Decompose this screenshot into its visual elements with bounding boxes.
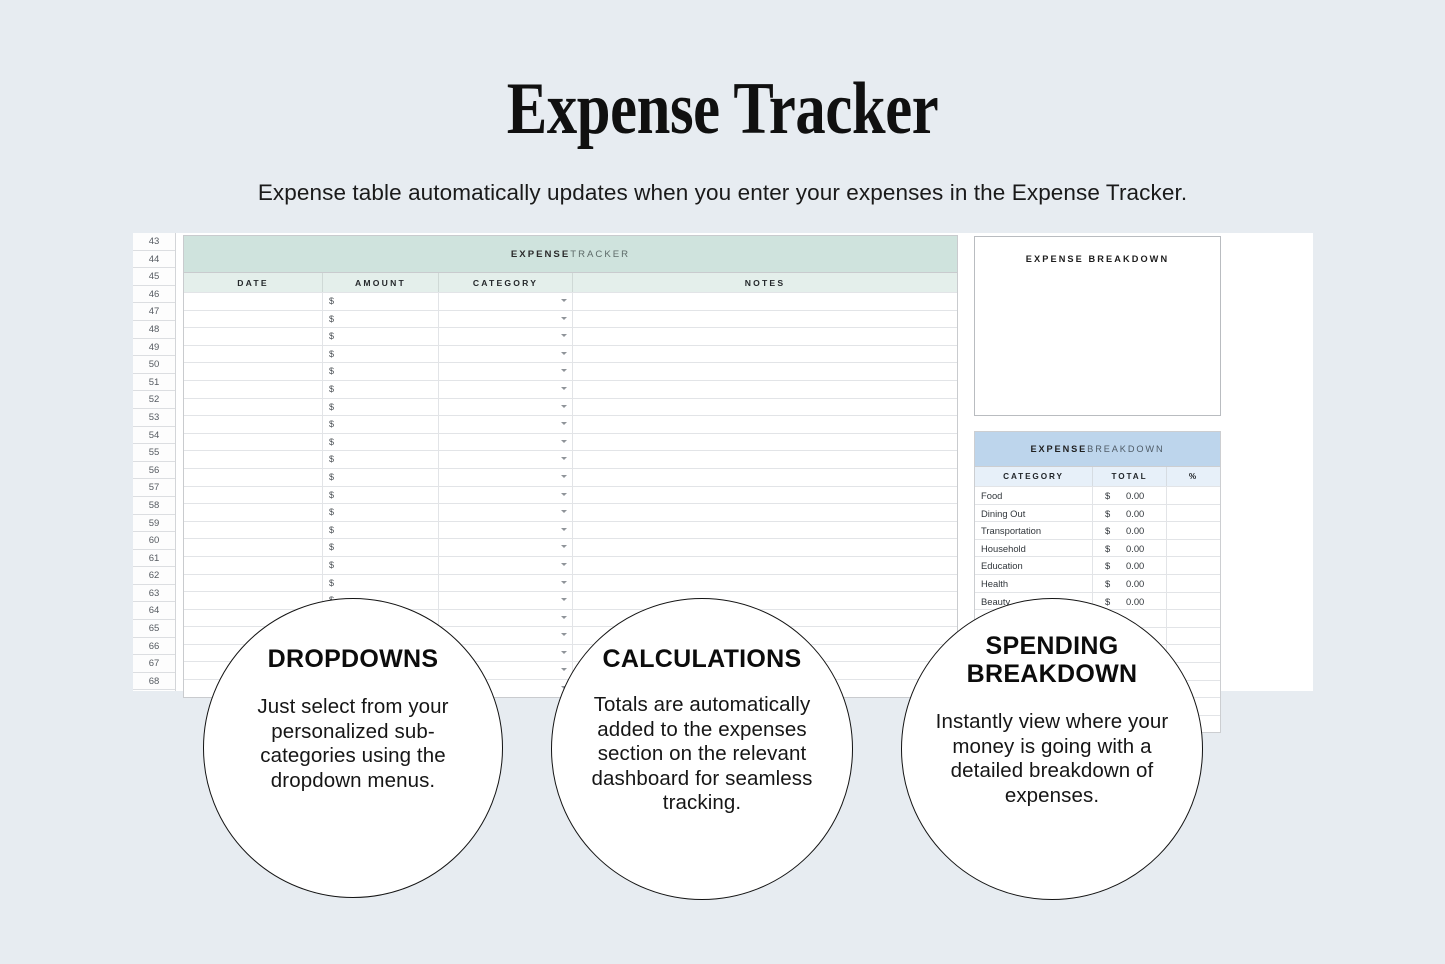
breakdown-total-value: 0.00 [1126, 593, 1144, 611]
chevron-down-icon[interactable] [561, 545, 567, 548]
breakdown-category-label: Transportation [975, 525, 1041, 536]
breakdown-row[interactable]: Education$0.00 [975, 556, 1220, 574]
breakdown-cell-percent[interactable] [1167, 505, 1220, 522]
chevron-down-icon[interactable] [561, 457, 567, 460]
chevron-down-icon[interactable] [561, 334, 567, 337]
row-number[interactable]: 64 [133, 602, 175, 620]
breakdown-cell-percent[interactable] [1167, 557, 1220, 574]
cell-notes[interactable] [573, 469, 957, 486]
expense-breakdown-title-light: BREAKDOWN [1087, 444, 1164, 454]
row-number[interactable]: 66 [133, 638, 175, 656]
cell-category-dropdown[interactable] [439, 399, 573, 416]
breakdown-total-value: 0.00 [1126, 522, 1144, 540]
chevron-down-icon[interactable] [561, 405, 567, 408]
table-row[interactable]: $ [184, 415, 957, 433]
breakdown-row[interactable]: Food$0.00 [975, 486, 1220, 504]
cell-date[interactable] [184, 363, 323, 380]
chevron-down-icon[interactable] [561, 651, 567, 654]
breakdown-cell-total[interactable]: $0.00 [1093, 540, 1167, 557]
cell-category-dropdown[interactable] [439, 557, 573, 574]
breakdown-cell-category[interactable]: Transportation [975, 522, 1093, 539]
table-row[interactable]: $ [184, 433, 957, 451]
feature-body-calculations: Totals are automatically added to the ex… [582, 693, 822, 816]
currency-symbol: $ [1105, 575, 1110, 593]
table-row[interactable]: $ [184, 450, 957, 468]
breakdown-category-label: Household [975, 543, 1026, 554]
currency-symbol: $ [329, 349, 334, 359]
cell-amount[interactable]: $ [323, 311, 439, 328]
chevron-down-icon[interactable] [561, 369, 567, 372]
currency-symbol: $ [329, 437, 334, 447]
cell-amount[interactable]: $ [323, 487, 439, 504]
cell-amount[interactable]: $ [323, 328, 439, 345]
chevron-down-icon[interactable] [561, 317, 567, 320]
cell-category-dropdown[interactable] [439, 469, 573, 486]
feature-circle-spending-breakdown: SPENDING BREAKDOWN Instantly view where … [901, 598, 1203, 900]
chevron-down-icon[interactable] [561, 528, 567, 531]
cell-notes[interactable] [573, 539, 957, 556]
cell-notes[interactable] [573, 399, 957, 416]
table-row[interactable]: $ [184, 310, 957, 328]
feature-circle-dropdowns: DROPDOWNS Just select from your personal… [203, 598, 503, 898]
breakdown-row[interactable]: Health$0.00 [975, 574, 1220, 592]
cell-category-dropdown[interactable] [439, 575, 573, 592]
table-row[interactable]: $ [184, 591, 957, 609]
chevron-down-icon[interactable] [561, 633, 567, 636]
cell-date[interactable] [184, 522, 323, 539]
cell-notes[interactable] [573, 522, 957, 539]
table-row[interactable]: $ [184, 327, 957, 345]
cell-notes[interactable] [573, 434, 957, 451]
breakdown-category-label: Health [975, 578, 1008, 589]
cell-date[interactable] [184, 399, 323, 416]
breakdown-category-label: Education [975, 560, 1023, 571]
chevron-down-icon[interactable] [561, 440, 567, 443]
cell-category-dropdown[interactable] [439, 539, 573, 556]
breakdown-cell-percent[interactable] [1167, 593, 1220, 610]
cell-category-dropdown[interactable] [439, 346, 573, 363]
cell-amount[interactable]: $ [323, 557, 439, 574]
chevron-down-icon[interactable] [561, 616, 567, 619]
row-number[interactable]: 47 [133, 303, 175, 321]
expense-tracker-title-band: EXPENSETRACKER [184, 236, 957, 272]
table-row[interactable]: $ [184, 362, 957, 380]
row-number[interactable]: 51 [133, 374, 175, 392]
cell-amount[interactable]: $ [323, 451, 439, 468]
table-row[interactable]: $ [184, 521, 957, 539]
breakdown-cell-category[interactable]: Education [975, 557, 1093, 574]
cell-notes[interactable] [573, 575, 957, 592]
cell-date[interactable] [184, 416, 323, 433]
chevron-down-icon[interactable] [561, 668, 567, 671]
breakdown-cell-percent[interactable] [1167, 628, 1220, 645]
chevron-down-icon[interactable] [561, 493, 567, 496]
cell-category-dropdown[interactable] [439, 434, 573, 451]
row-number[interactable]: 53 [133, 409, 175, 427]
cell-date[interactable] [184, 381, 323, 398]
expense-tracker-title: EXPENSETRACKER [184, 249, 957, 260]
cell-category-dropdown[interactable] [439, 592, 573, 609]
cell-date[interactable] [184, 451, 323, 468]
cell-date[interactable] [184, 539, 323, 556]
cell-notes[interactable] [573, 557, 957, 574]
breakdown-total-value: 0.00 [1126, 540, 1144, 558]
table-row[interactable]: $ [184, 486, 957, 504]
currency-symbol: $ [329, 578, 334, 588]
currency-symbol: $ [329, 402, 334, 412]
column-header-category: CATEGORY [439, 273, 573, 292]
expense-tracker-header-row: DATE AMOUNT CATEGORY NOTES [184, 272, 957, 292]
breakdown-total-value: 0.00 [1126, 487, 1144, 505]
chevron-down-icon[interactable] [561, 581, 567, 584]
table-row[interactable]: $ [184, 574, 957, 592]
currency-symbol: $ [1105, 487, 1110, 505]
breakdown-column-header-total: TOTAL [1093, 467, 1167, 486]
breakdown-cell-total[interactable]: $0.00 [1093, 505, 1167, 522]
cell-amount[interactable]: $ [323, 416, 439, 433]
row-number[interactable]: 57 [133, 479, 175, 497]
cell-amount[interactable]: $ [323, 469, 439, 486]
row-number[interactable]: 60 [133, 532, 175, 550]
chevron-down-icon[interactable] [561, 563, 567, 566]
cell-category-dropdown[interactable] [439, 451, 573, 468]
cell-amount[interactable]: $ [323, 293, 439, 310]
breakdown-cell-total[interactable]: $0.00 [1093, 575, 1167, 592]
row-number[interactable]: 63 [133, 585, 175, 603]
breakdown-category-label: Food [975, 490, 1002, 501]
cell-category-dropdown[interactable] [439, 311, 573, 328]
cell-amount[interactable]: $ [323, 575, 439, 592]
breakdown-cell-total[interactable]: $0.00 [1093, 522, 1167, 539]
expense-tracker-title-light: TRACKER [570, 249, 630, 260]
row-number[interactable]: 54 [133, 427, 175, 445]
page-title: Expense Tracker [130, 72, 1315, 146]
table-row[interactable]: $ [184, 292, 957, 310]
row-number[interactable]: 43 [133, 233, 175, 251]
row-number[interactable]: 62 [133, 567, 175, 585]
breakdown-total-value: 0.00 [1126, 557, 1144, 575]
cell-category-dropdown[interactable] [439, 416, 573, 433]
row-number[interactable]: 55 [133, 444, 175, 462]
cell-amount[interactable]: $ [323, 346, 439, 363]
cell-date[interactable] [184, 328, 323, 345]
cell-date[interactable] [184, 293, 323, 310]
breakdown-total-value: 0.00 [1126, 505, 1144, 523]
breakdown-cell-percent[interactable] [1167, 540, 1220, 557]
breakdown-total-value: 0.00 [1126, 575, 1144, 593]
table-row[interactable]: $ [184, 345, 957, 363]
breakdown-cell-percent[interactable] [1167, 610, 1220, 627]
currency-symbol: $ [329, 454, 334, 464]
row-number-gutter: 4344454647484950515253545556575859606162… [133, 233, 176, 691]
cell-amount[interactable]: $ [323, 381, 439, 398]
currency-symbol: $ [329, 366, 334, 376]
cell-date[interactable] [184, 487, 323, 504]
cell-amount[interactable]: $ [323, 363, 439, 380]
chevron-down-icon[interactable] [561, 352, 567, 355]
cell-notes[interactable] [573, 592, 957, 609]
cell-notes[interactable] [573, 363, 957, 380]
chevron-down-icon[interactable] [561, 598, 567, 601]
expense-breakdown-chart-panel: EXPENSE BREAKDOWN [974, 236, 1221, 416]
currency-symbol: $ [1105, 522, 1110, 540]
cell-amount[interactable]: $ [323, 522, 439, 539]
currency-symbol: $ [329, 296, 334, 306]
cell-category-dropdown[interactable] [439, 610, 573, 627]
column-header-notes: NOTES [573, 273, 957, 292]
row-number[interactable]: 65 [133, 620, 175, 638]
currency-symbol: $ [329, 542, 334, 552]
row-number[interactable]: 49 [133, 339, 175, 357]
currency-symbol: $ [1105, 540, 1110, 558]
table-row[interactable]: $ [184, 468, 957, 486]
feature-title-calculations: CALCULATIONS [603, 645, 802, 673]
currency-symbol: $ [329, 331, 334, 341]
cell-amount[interactable]: $ [323, 399, 439, 416]
feature-title-spending-breakdown: SPENDING BREAKDOWN [942, 632, 1162, 688]
cell-category-dropdown[interactable] [439, 293, 573, 310]
chevron-down-icon[interactable] [561, 510, 567, 513]
cell-date[interactable] [184, 575, 323, 592]
cell-amount[interactable]: $ [323, 434, 439, 451]
cell-category-dropdown[interactable] [439, 487, 573, 504]
row-number[interactable]: 56 [133, 462, 175, 480]
table-row[interactable]: $ [184, 556, 957, 574]
currency-symbol: $ [329, 560, 334, 570]
expense-breakdown-title-band: EXPENSEBREAKDOWN [975, 432, 1220, 466]
cell-amount[interactable]: $ [323, 504, 439, 521]
table-row[interactable]: $ [184, 398, 957, 416]
cell-date[interactable] [184, 434, 323, 451]
table-row[interactable]: $ [184, 503, 957, 521]
chevron-down-icon[interactable] [561, 387, 567, 390]
currency-symbol: $ [1105, 505, 1110, 523]
row-number[interactable]: 45 [133, 268, 175, 286]
row-number[interactable]: 44 [133, 251, 175, 269]
cell-notes[interactable] [573, 381, 957, 398]
cell-category-dropdown[interactable] [439, 504, 573, 521]
row-number[interactable]: 67 [133, 655, 175, 673]
cell-amount[interactable]: $ [323, 539, 439, 556]
cell-date[interactable] [184, 311, 323, 328]
chevron-down-icon[interactable] [561, 422, 567, 425]
cell-category-dropdown[interactable] [439, 522, 573, 539]
breakdown-row[interactable]: Household$0.00 [975, 539, 1220, 557]
breakdown-cell-total[interactable]: $0.00 [1093, 487, 1167, 504]
currency-symbol: $ [329, 525, 334, 535]
currency-symbol: $ [329, 507, 334, 517]
breakdown-cell-percent[interactable] [1167, 645, 1220, 662]
cell-notes[interactable] [573, 416, 957, 433]
cell-notes[interactable] [573, 293, 957, 310]
feature-title-dropdowns: DROPDOWNS [268, 645, 439, 673]
cell-date[interactable] [184, 346, 323, 363]
cell-category-dropdown[interactable] [439, 363, 573, 380]
expense-breakdown-title-bold: EXPENSE [1030, 444, 1087, 454]
row-number[interactable]: 58 [133, 497, 175, 515]
feature-body-dropdowns: Just select from your personalized sub-c… [238, 695, 468, 793]
row-number[interactable]: 59 [133, 515, 175, 533]
cell-notes[interactable] [573, 328, 957, 345]
breakdown-column-header-percent: % [1167, 467, 1220, 486]
cell-category-dropdown[interactable] [439, 381, 573, 398]
chevron-down-icon[interactable] [561, 299, 567, 302]
breakdown-cell-total[interactable]: $0.00 [1093, 557, 1167, 574]
expense-tracker-title-bold: EXPENSE [511, 249, 570, 260]
breakdown-category-label: Dining Out [975, 508, 1025, 519]
currency-symbol: $ [329, 472, 334, 482]
row-number[interactable]: 48 [133, 321, 175, 339]
breakdown-cell-category[interactable]: Health [975, 575, 1093, 592]
row-number[interactable]: 61 [133, 550, 175, 568]
table-row[interactable]: $ [184, 538, 957, 556]
row-number[interactable]: 46 [133, 286, 175, 304]
cell-date[interactable] [184, 469, 323, 486]
row-number[interactable]: 68 [133, 673, 175, 691]
column-header-amount: AMOUNT [323, 273, 439, 292]
breakdown-cell-percent[interactable] [1167, 522, 1220, 539]
table-row[interactable]: $ [184, 380, 957, 398]
page-subtitle: Expense table automatically updates when… [0, 180, 1445, 206]
breakdown-row[interactable]: Dining Out$0.00 [975, 504, 1220, 522]
breakdown-cell-percent[interactable] [1167, 487, 1220, 504]
cell-category-dropdown[interactable] [439, 328, 573, 345]
chevron-down-icon[interactable] [561, 475, 567, 478]
currency-symbol: $ [1105, 557, 1110, 575]
expense-breakdown-title: EXPENSEBREAKDOWN [975, 444, 1220, 454]
breakdown-cell-percent[interactable] [1167, 575, 1220, 592]
breakdown-cell-category[interactable]: Dining Out [975, 505, 1093, 522]
currency-symbol: $ [329, 384, 334, 394]
cell-notes[interactable] [573, 346, 957, 363]
breakdown-cell-category[interactable]: Household [975, 540, 1093, 557]
breakdown-column-header-category: CATEGORY [975, 467, 1093, 486]
breakdown-row[interactable]: Transportation$0.00 [975, 521, 1220, 539]
cell-date[interactable] [184, 557, 323, 574]
row-number[interactable]: 50 [133, 356, 175, 374]
currency-symbol: $ [329, 419, 334, 429]
cell-notes[interactable] [573, 311, 957, 328]
expense-breakdown-chart-title: EXPENSE BREAKDOWN [975, 254, 1220, 264]
currency-symbol: $ [329, 314, 334, 324]
cell-notes[interactable] [573, 504, 957, 521]
cell-notes[interactable] [573, 451, 957, 468]
row-number[interactable]: 52 [133, 391, 175, 409]
column-header-date: DATE [184, 273, 323, 292]
currency-symbol: $ [329, 490, 334, 500]
feature-body-spending-breakdown: Instantly view where your money is going… [932, 710, 1172, 808]
feature-circle-calculations: CALCULATIONS Totals are automatically ad… [551, 598, 853, 900]
cell-notes[interactable] [573, 487, 957, 504]
cell-date[interactable] [184, 504, 323, 521]
breakdown-header-row: CATEGORY TOTAL % [975, 466, 1220, 486]
breakdown-cell-category[interactable]: Food [975, 487, 1093, 504]
